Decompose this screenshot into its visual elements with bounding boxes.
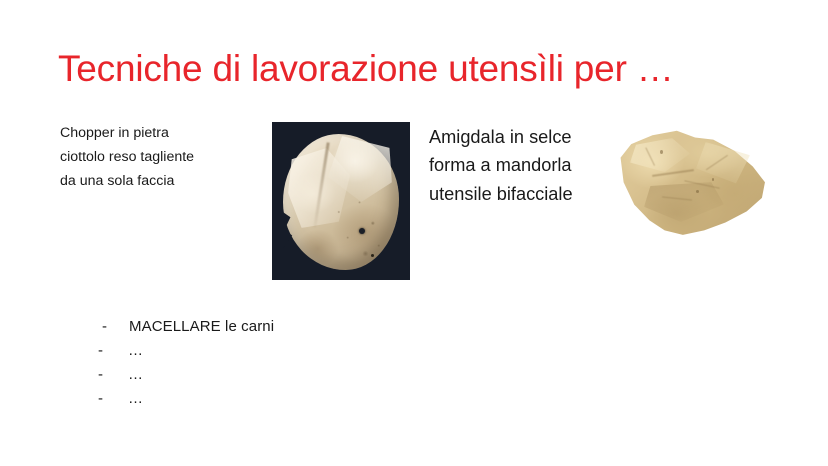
list-item: - … <box>98 387 418 411</box>
amigdala-speck-2 <box>696 190 699 193</box>
amigdala-speck-1 <box>660 150 663 154</box>
page-title: Tecniche di lavorazione utensìli per … <box>58 48 758 90</box>
caption-chopper-line-3: da una sola faccia <box>60 169 260 193</box>
caption-chopper-line-2: ciottolo reso tagliente <box>60 145 260 169</box>
amigdala-stone-shape <box>616 124 768 236</box>
chopper-pit-small <box>371 254 374 257</box>
caption-chopper-line-1: Chopper in pietra <box>60 121 260 145</box>
slide-canvas: Tecniche di lavorazione utensìli per … C… <box>0 0 828 466</box>
bullet-text: … <box>128 339 143 363</box>
bullet-text: MACELLARE le carni <box>129 315 274 339</box>
bullet-marker: - <box>102 315 129 339</box>
chopper-pit-large <box>359 228 365 234</box>
chopper-photo <box>272 122 410 280</box>
list-item: - MACELLARE le carni <box>98 315 418 339</box>
caption-chopper: Chopper in pietra ciottolo reso taglient… <box>60 121 260 194</box>
caption-amigdala: Amigdala in selce forma a mandorla utens… <box>429 123 619 208</box>
caption-amigdala-line-3: utensile bifacciale <box>429 180 619 208</box>
bullet-text: … <box>128 363 143 387</box>
caption-amigdala-line-2: forma a mandorla <box>429 151 619 179</box>
caption-amigdala-line-1: Amigdala in selce <box>429 123 619 151</box>
bullet-marker: - <box>98 387 128 411</box>
amigdala-photo <box>600 112 780 248</box>
bullet-list: - MACELLARE le carni - … - … - … <box>98 315 418 411</box>
bullet-marker: - <box>98 339 128 363</box>
list-item: - … <box>98 363 418 387</box>
list-item: - … <box>98 339 418 363</box>
bullet-marker: - <box>98 363 128 387</box>
bullet-text: … <box>128 387 143 411</box>
amigdala-speck-3 <box>712 178 714 181</box>
